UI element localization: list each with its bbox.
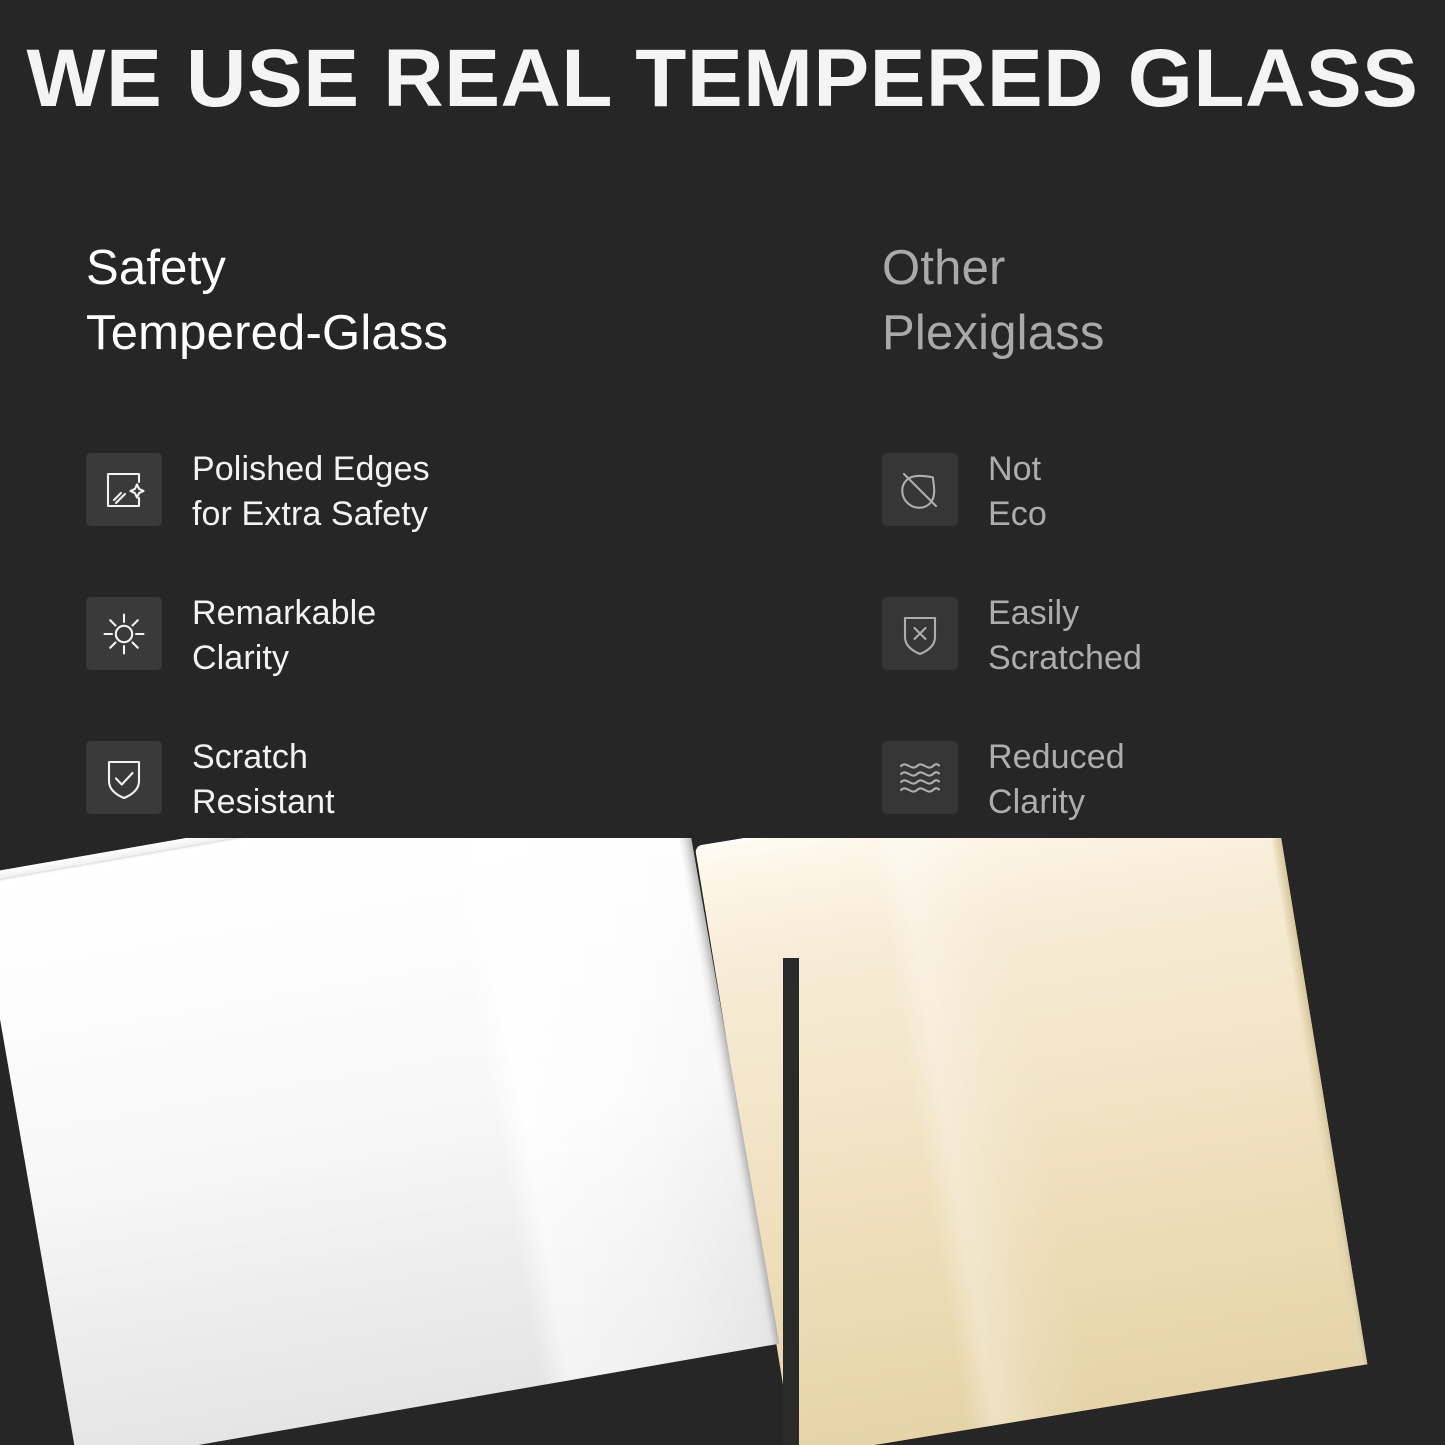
feature-row-easily-scratched: Easily Scratched <box>882 595 1402 739</box>
panel-separation-gap <box>783 958 799 1445</box>
feature-row-polished-edges: Polished Edges for Extra Safety <box>86 451 846 595</box>
feature-row-not-eco: Not Eco <box>882 451 1402 595</box>
shield-x-icon <box>882 597 958 670</box>
page-title: WE USE REAL TEMPERED GLASS <box>0 36 1445 122</box>
shield-check-icon <box>86 741 162 814</box>
feature-label-remarkable-clarity: Remarkable Clarity <box>192 591 376 681</box>
feature-label-not-eco: Not Eco <box>988 447 1047 537</box>
wavy-lines-icon <box>882 741 958 814</box>
comparison-infographic: WE USE REAL TEMPERED GLASS Safety Temper… <box>0 0 1445 1445</box>
sun-brightness-icon <box>86 597 162 670</box>
column-title-right: Other Plexiglass <box>882 236 1402 366</box>
column-title-left: Safety Tempered-Glass <box>86 236 846 366</box>
product-photo <box>0 838 1445 1445</box>
feature-list-left: Polished Edges for Extra Safety <box>86 451 846 883</box>
tempered-glass-panel <box>0 838 779 1445</box>
feature-label-scratch-resistant: Scratch Resistant <box>192 735 335 825</box>
feature-label-polished-edges: Polished Edges for Extra Safety <box>192 447 430 537</box>
column-safety-tempered-glass: Safety Tempered-Glass Polished Edges for… <box>86 236 846 366</box>
feature-label-easily-scratched: Easily Scratched <box>988 591 1142 681</box>
column-other-plexiglass: Other Plexiglass Not Eco <box>882 236 1402 366</box>
feature-label-reduced-clarity: Reduced Clarity <box>988 735 1125 825</box>
polished-glass-sparkle-icon <box>86 453 162 526</box>
feature-list-right: Not Eco Easily Scratched <box>882 451 1402 883</box>
feature-row-remarkable-clarity: Remarkable Clarity <box>86 595 846 739</box>
leaf-crossed-out-icon <box>882 453 958 526</box>
